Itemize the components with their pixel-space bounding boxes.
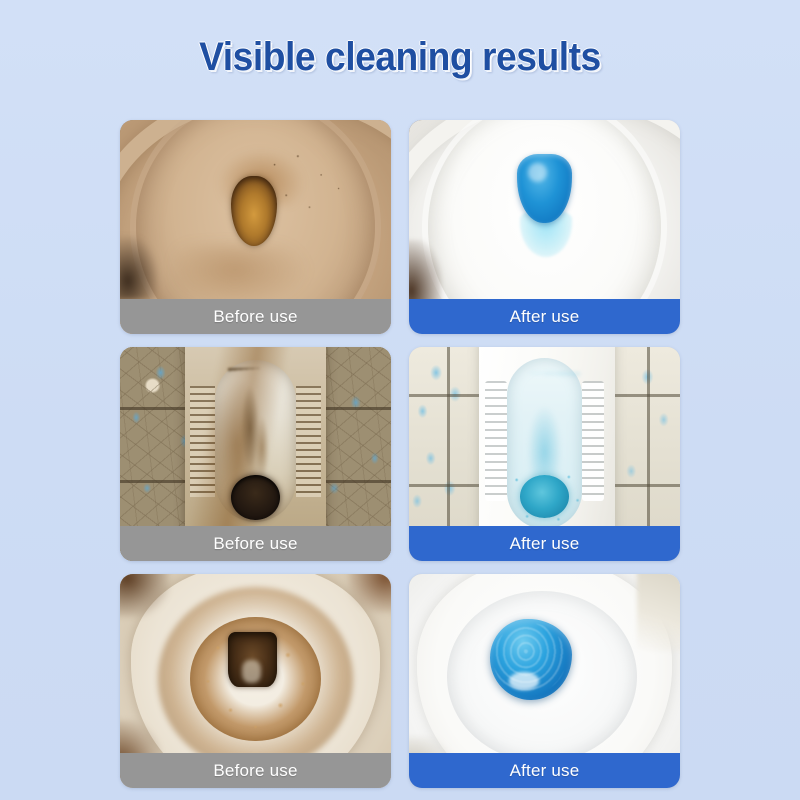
before-card-1[interactable]: Before use — [120, 120, 391, 334]
before-label-2: Before use — [120, 526, 391, 561]
after-card-3[interactable]: After use — [409, 574, 680, 788]
drain-highlight — [242, 660, 261, 684]
page-title: Visible cleaning results — [199, 34, 601, 80]
before-card-3[interactable]: Before use — [120, 574, 391, 788]
before-label-1: Before use — [120, 299, 391, 334]
background-shadow — [120, 236, 158, 300]
cleaner-splash-droplets — [501, 458, 588, 531]
comparison-row-2: Before use After — [120, 347, 680, 561]
after-card-1[interactable]: After use — [409, 120, 680, 334]
background-shadow-top-left — [120, 574, 169, 617]
cleaner-highlight — [509, 672, 539, 689]
product-comparison-page: Visible cleaning results Before use — [0, 0, 800, 800]
after-label-3: After use — [409, 753, 680, 788]
before-card-2[interactable]: Before use — [120, 347, 391, 561]
comparison-grid: Before use After use — [120, 120, 680, 788]
comparison-row-1: Before use After use — [120, 120, 680, 334]
comparison-row-3: Before use After use — [120, 574, 680, 788]
after-card-2[interactable]: After use — [409, 347, 680, 561]
background-shadow-top-right — [348, 574, 391, 613]
before-label-3: Before use — [120, 753, 391, 788]
drain-hole — [231, 475, 280, 520]
after-label-2: After use — [409, 526, 680, 561]
page-title-wrap: Visible cleaning results — [0, 34, 800, 80]
after-label-1: After use — [409, 299, 680, 334]
background-wall — [637, 574, 680, 651]
